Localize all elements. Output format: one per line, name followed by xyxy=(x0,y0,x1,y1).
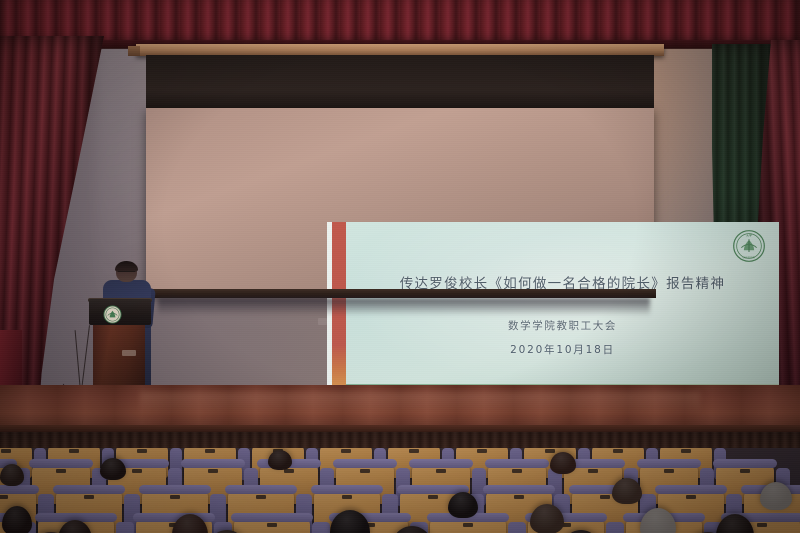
projection-screen-case xyxy=(146,55,654,113)
audience-member xyxy=(0,464,24,486)
seat-number-plate xyxy=(360,469,370,473)
audience-member xyxy=(530,504,564,533)
seat-number-plate xyxy=(409,449,419,453)
seat-number-plate xyxy=(1,449,11,453)
screen-bottom-bar xyxy=(146,289,656,298)
seat-number-plate xyxy=(463,523,473,527)
audience-member xyxy=(100,458,126,480)
seat-number-plate xyxy=(545,449,555,453)
seat-number-plate xyxy=(757,523,767,527)
seat-number-plate xyxy=(256,495,266,499)
seat-number-plate xyxy=(514,495,524,499)
audience-member xyxy=(268,450,292,470)
auditorium-seat xyxy=(430,518,506,533)
auditorium-photo: 大学 UNIVERSITY 传达罗俊校长《如何做一名合格的院长》报告精神 数学学… xyxy=(0,0,800,533)
seat-number-plate xyxy=(56,469,66,473)
seat-number-plate xyxy=(600,495,610,499)
screen-drop-shadow xyxy=(158,298,650,316)
university-seal-logo: 大学 UNIVERSITY xyxy=(732,229,766,263)
seat-number-plate xyxy=(477,449,487,453)
beam-end-cap xyxy=(128,46,140,56)
seat-number-plate xyxy=(284,469,294,473)
seat-armrest xyxy=(116,522,134,533)
seat-number-plate xyxy=(341,449,351,453)
seat-number-plate xyxy=(69,449,79,453)
seat-number-plate xyxy=(267,523,277,527)
svg-text:UNIVERSITY: UNIVERSITY xyxy=(742,256,756,259)
presenter-glasses xyxy=(118,271,135,276)
seat-number-plate xyxy=(132,469,142,473)
seat-armrest xyxy=(508,522,526,533)
seat-number-plate xyxy=(342,495,352,499)
slide-date: 2020年10月18日 xyxy=(346,342,779,357)
seat-number-plate xyxy=(681,449,691,453)
seat-number-plate xyxy=(613,449,623,453)
seat-number-plate xyxy=(588,469,598,473)
audience-member xyxy=(448,492,478,518)
audience-member xyxy=(760,482,792,510)
seat-number-plate xyxy=(208,469,218,473)
seat-number-plate xyxy=(664,469,674,473)
seat-number-plate xyxy=(686,495,696,499)
university-seal-emblem xyxy=(103,305,122,324)
audience-seating xyxy=(0,448,800,533)
svg-text:大学: 大学 xyxy=(746,233,752,238)
seat-number-plate xyxy=(137,449,147,453)
seat-number-plate xyxy=(205,449,215,453)
lectern-control-plate xyxy=(122,350,136,356)
seat-armrest xyxy=(312,522,330,533)
seat-number-plate xyxy=(428,495,438,499)
seat-number-plate xyxy=(170,495,180,499)
wall-outlet xyxy=(318,318,327,325)
projection-screen: 大学 UNIVERSITY 传达罗俊校长《如何做一名合格的院长》报告精神 数学学… xyxy=(146,108,654,294)
seat-number-plate xyxy=(512,469,522,473)
audience-member xyxy=(612,478,642,504)
audience-member xyxy=(550,452,576,474)
seat-number-plate xyxy=(740,469,750,473)
seat-armrest xyxy=(606,522,624,533)
stage-floor-reflection xyxy=(140,392,700,414)
auditorium-seat xyxy=(234,518,310,533)
seat-number-plate xyxy=(84,495,94,499)
slide-subtitle: 数学学院教职工大会 xyxy=(346,318,779,333)
seat-number-plate xyxy=(436,469,446,473)
seat-number-plate xyxy=(0,495,8,499)
